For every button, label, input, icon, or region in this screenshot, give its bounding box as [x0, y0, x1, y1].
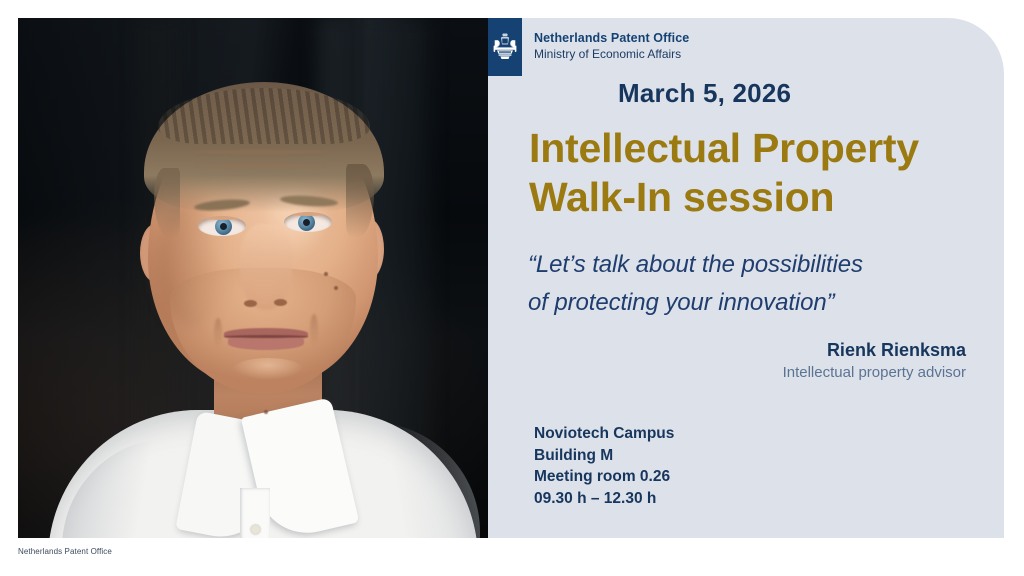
logo-wordmark: Netherlands Patent Office Ministry of Ec… [534, 30, 689, 62]
lower-lip [228, 337, 304, 350]
shirt-shading [370, 422, 480, 538]
chin [232, 358, 304, 382]
event-quote: “Let’s talk about the possibilities of p… [528, 246, 958, 322]
eyelid [198, 216, 246, 220]
venue-building: Building M [534, 445, 674, 467]
eyelid [284, 212, 332, 216]
smile-line-left [214, 318, 222, 348]
iris [298, 214, 315, 231]
skin-mark [324, 272, 328, 276]
event-date: March 5, 2026 [618, 78, 791, 109]
forehead-line [190, 150, 330, 154]
pupil [303, 219, 310, 226]
presentation-slide: Netherlands Patent Office Ministry of Ec… [0, 0, 1024, 576]
event-quote-line-2: of protecting your innovation” [528, 284, 958, 322]
logo-ministry-name: Ministry of Economic Affairs [534, 46, 689, 62]
event-title-line-2: Walk-In session [529, 173, 989, 222]
skin-mark [264, 410, 268, 414]
mouth-line [224, 335, 308, 338]
nose [240, 224, 292, 310]
event-title: Intellectual Property Walk-In session [529, 124, 989, 222]
eye-right [284, 212, 332, 232]
venue-room: Meeting room 0.26 [534, 466, 674, 488]
iris [215, 218, 232, 235]
shirt-button [251, 525, 260, 534]
nostril-left [244, 300, 257, 307]
venue-campus: Noviotech Campus [534, 423, 674, 445]
logo-organisation-name: Netherlands Patent Office [534, 30, 689, 46]
slide-footer: Netherlands Patent Office [18, 547, 112, 556]
nostril-right [274, 299, 287, 306]
speaker-credit: Rienk Rienksma Intellectual property adv… [783, 338, 966, 384]
forehead-line [196, 164, 326, 167]
speaker-role: Intellectual property advisor [783, 362, 966, 384]
event-title-line-1: Intellectual Property [529, 124, 989, 173]
smile-line-right [310, 314, 318, 346]
eye-left [198, 216, 246, 236]
speaker-portrait-photo [18, 18, 488, 538]
skin-mark [334, 286, 338, 290]
venue-details: Noviotech Campus Building M Meeting room… [534, 423, 674, 509]
netherlands-coat-of-arms-icon [492, 32, 518, 62]
event-quote-line-1: “Let’s talk about the possibilities [528, 246, 958, 284]
speaker-name: Rienk Rienksma [783, 338, 966, 362]
venue-time: 09.30 h – 12.30 h [534, 488, 674, 510]
person-figure [18, 18, 488, 538]
pupil [220, 223, 227, 230]
shirt-shading [62, 438, 172, 538]
government-logo-block [488, 18, 522, 76]
